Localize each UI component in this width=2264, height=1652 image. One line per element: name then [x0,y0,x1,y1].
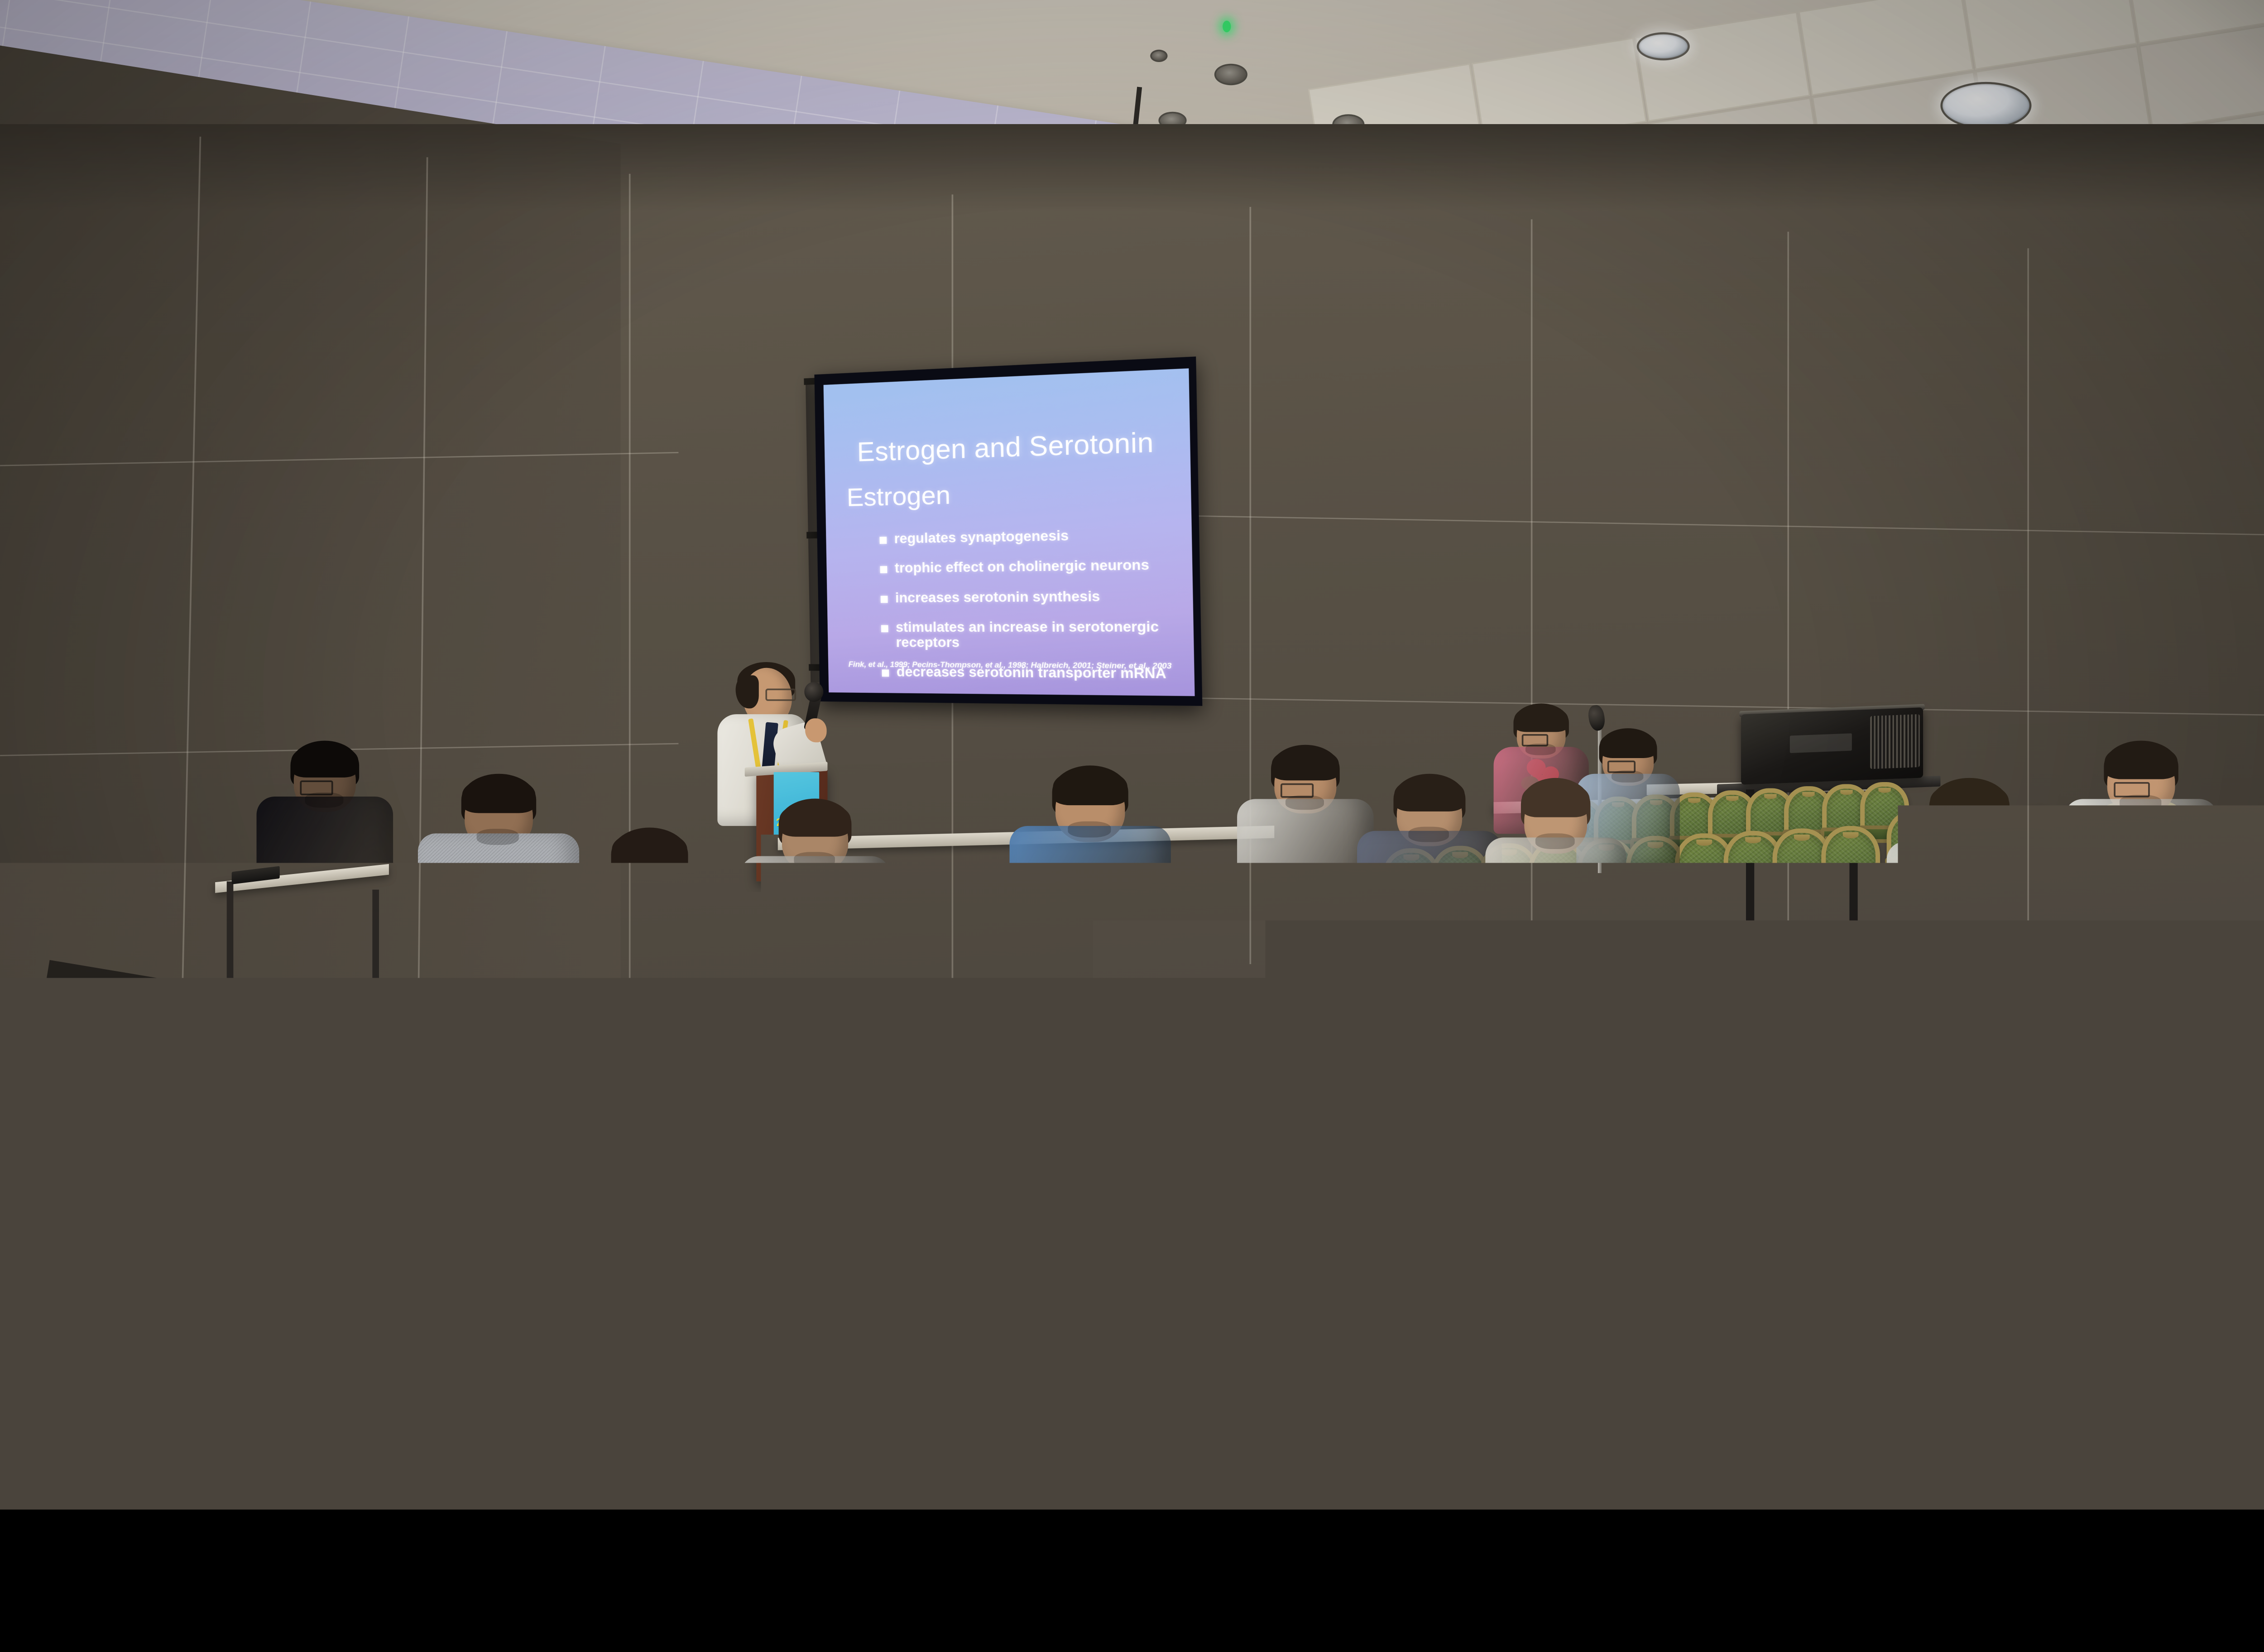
chair-backrest [740,1283,906,1459]
person-torso [2102,1321,2264,1510]
chair-seat [1250,1061,1352,1089]
chair-backrest [836,1101,965,1241]
chair-seat [348,1248,485,1285]
attendee-ponytail-woman [741,799,890,1006]
microphone-icon [804,682,823,702]
person-neck-shadow [794,852,835,868]
audience-chair[interactable] [473,1115,593,1297]
chair-backrest [906,983,1002,1087]
chair-backrest [993,979,1089,1084]
chair-backrest [2039,1019,2143,1132]
chair-backrest [472,1001,568,1106]
person-hair-front [1514,706,1568,732]
wall-top-shadow [0,124,2264,211]
audience-chair[interactable] [740,1283,897,1510]
chair-backrest [2228,1012,2264,1125]
chair-back-notch [957,1286,1007,1305]
chair-seat [416,1457,593,1502]
bullet-square-icon [881,595,888,603]
person-torso [1357,831,1502,963]
chair-seat [590,1238,727,1275]
chair-backrest [1080,975,1176,1080]
person-torso [1485,838,1626,975]
person-neck-shadow [1285,795,1324,810]
person-hair-front [612,831,687,868]
ceiling-speaker-icon [1214,64,1247,86]
chair-back-notch [1696,840,1712,845]
person-neck-shadow [2120,795,2162,811]
attendee-dark-suit-left [257,741,393,946]
chair-backrest [732,990,828,1095]
ceiling-smoke-detector-icon [1150,50,1167,62]
presentation-slide: Estrogen and Serotonin Estrogen regulate… [824,368,1195,696]
attendee-striped-shirt [418,774,579,987]
chair-backrest [353,1120,482,1261]
chair-back-notch [1726,796,1739,801]
chair-seat [734,1445,911,1489]
audience-chair[interactable] [1077,1091,1197,1273]
chair-back-notch [2170,1023,2201,1034]
chair-backrest [473,1115,602,1256]
audience-chair[interactable] [1167,971,1254,1104]
person-neck-shadow [1409,826,1449,842]
slide-bullet: increases serotonin synthesis [881,588,1181,605]
audience-chair[interactable] [819,986,906,1119]
chair-seat [1163,1064,1265,1093]
chair-back-notch [1288,975,1315,986]
slide-bullet-text: trophic effect on cholinergic neurons [895,557,1150,576]
person-neck-shadow [305,792,343,807]
chair-back-notch [1201,979,1228,989]
person-torso [567,888,732,1033]
chair-back-notch [798,1292,848,1311]
conference-room-photo: Estrogen and Serotonin Estrogen regulate… [0,0,2264,1509]
chair-back-notch [398,1129,436,1143]
bullet-square-icon [880,566,887,573]
slide-bullet: trophic effect on cholinergic neurons [880,557,1180,576]
attendee-bald-elder [1878,960,2043,1208]
chair-back-notch [2040,1326,2094,1345]
chair-back-notch [518,1124,557,1138]
slide-bullet-text: increases serotonin synthesis [895,588,1100,605]
person-hair-front [2148,1241,2250,1292]
chair-back-notch [1002,1104,1041,1119]
person-hair-front [291,744,358,778]
person-torso [1878,1028,2043,1193]
slide-bullet: regulates synaptogenesis [879,526,1180,547]
audience-chair[interactable] [1216,1264,1373,1496]
table-leg [227,881,234,1018]
chair-back-notch [1840,790,1853,795]
green-indicator-led-icon [1223,21,1231,33]
projector-vent-grille [1870,714,1920,769]
chair-back-notch [1027,986,1055,997]
cable-tape-marker [1621,1172,1651,1187]
chair-back-notch [1843,832,1859,838]
chair-back-notch [2216,1155,2257,1170]
person-hair-front [1522,781,1590,817]
audience-chair[interactable] [957,1096,1077,1278]
chair-back-notch [1123,1099,1161,1114]
audience-chair[interactable] [232,1125,352,1307]
audience-chair[interactable] [836,1101,956,1283]
audience-chair[interactable] [1640,891,1706,993]
person-torso [741,856,890,993]
projection-screen: Estrogen and Serotonin Estrogen regulate… [814,356,1202,706]
audience-chair[interactable] [472,1001,559,1133]
audience-chair[interactable] [581,1289,738,1509]
slide-bullet-text: regulates synaptogenesis [894,528,1069,547]
bullet-square-icon [881,625,888,632]
person-hair-front [1394,777,1464,812]
chair-backrest [1167,971,1263,1076]
slide-bullet: stimulates an increase in serotonergic r… [881,619,1182,651]
chair-backrest [715,1106,844,1246]
chair-back-notch [1274,1274,1324,1292]
audience-chair[interactable] [422,1295,579,1509]
chair-seat [952,1223,1089,1260]
person-glasses-icon [1816,977,1862,996]
chair-seat [227,1253,364,1290]
attendee-navy-tee-corner [2102,1237,2264,1509]
speaker-glasses-icon [765,688,796,701]
audience-chair[interactable] [353,1120,473,1302]
chair-backrest [594,1110,723,1251]
person-hair-front [1053,768,1127,805]
person-hair-front [779,802,850,837]
chair-back-notch [2224,857,2241,863]
chair-back-notch [1688,798,1701,803]
person-neck-shadow [627,884,671,900]
chair-back-notch [639,1298,689,1317]
attendee-white-polo [1237,745,1374,935]
person-neck-shadow [1935,1023,1985,1041]
person-hair-front [462,777,535,813]
chair-seat [2035,1120,2145,1151]
audience-chair[interactable] [2228,1012,2264,1157]
chair-seat [831,1228,968,1265]
chair-back-notch [1114,983,1142,993]
chair-backrest [581,1289,747,1465]
attendee-long-hair-woman [1485,778,1626,987]
chair-back-notch [277,1134,316,1148]
speaker-hair-side [736,675,759,708]
bullet-square-icon [879,537,887,544]
chair-back-notch [1798,892,1819,900]
audience-chair[interactable] [1080,975,1167,1108]
chair-seat [2224,1114,2264,1144]
chair-back-notch [2076,1027,2106,1038]
chair-back-notch [506,1009,533,1019]
chair-back-notch [1745,837,1761,843]
chair-seat [2130,1117,2240,1148]
chair-back-notch [1732,895,1754,903]
chair-seat [892,1439,1070,1483]
chair-back-notch [1764,794,1777,799]
recessed-downlight-icon [1940,82,2031,129]
audience-chair[interactable] [1254,968,1341,1100]
chair-back-notch [1116,1280,1166,1298]
chair-back-notch [881,1109,920,1124]
attendee-white-tee-right [2065,741,2218,949]
chair-seat [1073,1218,1210,1255]
slide-bullet-text: stimulates an increase in serotonergic r… [896,619,1182,651]
recessed-downlight-icon [1637,32,1690,60]
chair-back-notch [1802,792,1815,797]
attendee-grey-jacket [1357,774,1502,976]
person-torso [1237,799,1374,923]
chair-back-notch [639,1119,678,1133]
chair-backrest [1254,968,1350,1072]
chair-seat [1051,1432,1228,1477]
person-torso [257,797,393,933]
chair-back-notch [760,1114,799,1129]
chair-backrest [232,1125,361,1266]
chair-backrest [2254,921,2264,1009]
bullet-square-icon [882,670,889,677]
chair-back-notch [940,990,968,1001]
projector-device [1741,707,1923,785]
audience-chair[interactable] [715,1106,835,1288]
audience-chair[interactable] [594,1110,714,1292]
attendee-blue-shirt [1010,765,1171,980]
audience-chair[interactable] [732,990,819,1123]
chair-backrest [2133,1015,2237,1129]
audience-chair[interactable] [2133,1015,2228,1160]
chair-seat [575,1451,752,1495]
slide-bullet-list: regulates synaptogenesistrophic effect o… [879,526,1182,682]
person-torso [418,833,579,974]
person-torso [2065,799,2218,936]
audience-chair[interactable] [2039,1019,2134,1164]
slide-subtitle: Estrogen [846,480,950,513]
chair-backrest [1077,1091,1206,1231]
person-hair-front [1600,730,1656,758]
speaker-hand [805,718,827,742]
chair-seat [1210,1426,1387,1471]
person-torso [1010,826,1171,967]
chair-back-notch [480,1305,530,1323]
person-neck-shadow [1823,994,1878,1014]
chair-back-notch [1209,918,1231,927]
chair-backrest [422,1295,588,1471]
slide-title: Estrogen and Serotonin [825,425,1190,469]
person-hair-front [1930,781,2009,820]
person-neck-shadow [1525,744,1556,755]
person-neck-shadow [477,829,519,845]
chair-backrest [1216,1264,1382,1440]
chair-back-notch [2088,1159,2129,1175]
person-hair-front [1919,963,2004,1004]
attendee-white-shirt-mid [567,827,732,1047]
audience-chair[interactable] [993,979,1080,1111]
chair-back-notch [1794,835,1810,840]
chair-backrest [957,1096,1086,1236]
person-neck-shadow [1535,833,1574,849]
chair-back-notch [1667,898,1688,906]
chair-seat [469,1243,606,1280]
person-neck-shadow [1946,837,1991,854]
person-neck-shadow [1068,821,1111,838]
person-neck-shadow [2168,1314,2228,1336]
chair-seat [710,1233,847,1270]
person-hair-front [2105,744,2178,779]
projector-label-plate [1790,733,1852,753]
person-hair-front [1272,748,1339,781]
